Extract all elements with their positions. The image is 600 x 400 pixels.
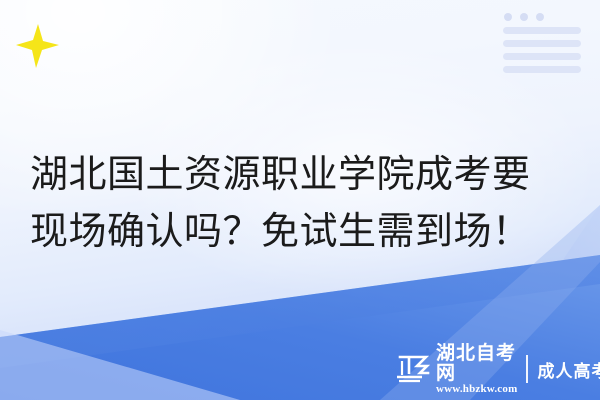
window-dot	[504, 13, 512, 21]
document-placeholder-icon	[495, 8, 587, 70]
placeholder-line	[503, 27, 581, 34]
window-dot	[520, 13, 528, 21]
hbzkw-z-mark-icon	[396, 353, 430, 385]
promo-banner: 湖北国土资源职业学院成考要 现场确认吗？免试生需到场！ 湖北自考网 www.hb…	[0, 0, 600, 400]
site-logo[interactable]: 湖北自考网 www.hbzkw.com 成人高考	[396, 349, 600, 389]
logo-divider	[526, 355, 528, 383]
logo-text-group: 湖北自考网 www.hbzkw.com	[436, 343, 517, 396]
window-dot	[536, 13, 544, 21]
placeholder-line	[503, 53, 581, 60]
placeholder-lines	[503, 27, 587, 73]
headline-line-2: 现场确认吗？免试生需到场！	[30, 203, 575, 260]
logo-brand-url: www.hbzkw.com	[436, 383, 517, 396]
logo-brand-name: 湖北自考网	[436, 343, 517, 383]
window-dots	[504, 13, 587, 21]
logo-tagline: 成人高考	[537, 357, 600, 382]
banner-headline: 湖北国土资源职业学院成考要 现场确认吗？免试生需到场！	[30, 146, 575, 260]
star-icon	[13, 22, 61, 70]
placeholder-line	[503, 66, 581, 73]
placeholder-line	[503, 40, 581, 47]
headline-line-1: 湖北国土资源职业学院成考要	[30, 146, 575, 203]
